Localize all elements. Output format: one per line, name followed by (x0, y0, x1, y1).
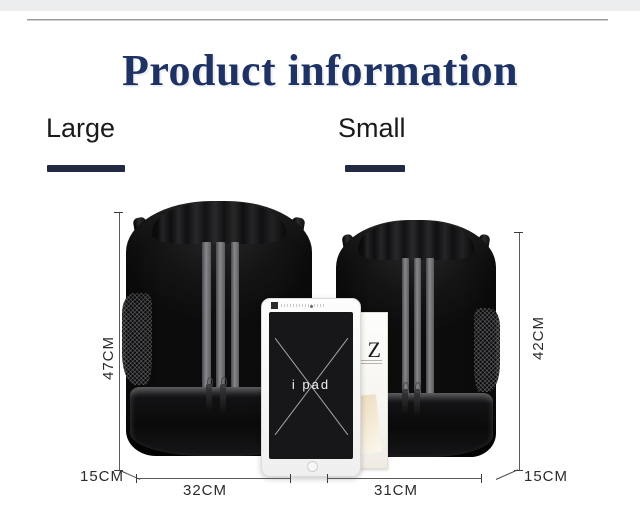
dimension-tick (114, 212, 123, 213)
dimension-label-large-width: 32CM (183, 482, 227, 499)
mesh-side-pocket (122, 293, 152, 385)
dimension-tick (290, 474, 291, 483)
variant-underline-small (345, 165, 405, 172)
dimension-tick (514, 232, 523, 233)
tablet-scale-reference: i pad (261, 298, 361, 477)
product-information-banner: Product information Large Small (0, 0, 640, 518)
dimension-line-large-width (136, 478, 290, 479)
zipper-pull-right (220, 384, 226, 412)
dimension-label-small-height: 42CM (530, 316, 547, 360)
top-strip (0, 0, 640, 11)
tablet-camera-icon (310, 305, 313, 308)
dimension-label-small-width: 31CM (374, 482, 418, 499)
variant-label-large: Large (46, 113, 115, 144)
page-title: Product information (0, 45, 640, 96)
dimension-label-large-height: 47CM (100, 336, 117, 380)
variant-underline-large (47, 165, 125, 172)
tablet-screen-label: i pad (269, 377, 353, 392)
tablet-home-button (307, 461, 318, 472)
zipper-pull-right (414, 389, 420, 415)
header-divider (27, 19, 608, 21)
dimension-tick (481, 474, 482, 483)
tablet-screen: i pad (269, 312, 353, 459)
dimension-label-small-depth: 15CM (524, 468, 568, 485)
zipper-pull-left (402, 389, 408, 413)
variant-label-small: Small (338, 113, 406, 144)
mesh-side-pocket (474, 308, 500, 392)
dimension-line-small-width (327, 478, 481, 479)
dimension-line-small-height (519, 232, 520, 470)
tablet-header-strip (271, 302, 325, 309)
dimension-label-large-depth: 15CM (80, 468, 124, 485)
dimension-tick (327, 474, 328, 483)
zipper-pull-left (206, 384, 212, 410)
dimension-line-large-height (119, 212, 120, 470)
